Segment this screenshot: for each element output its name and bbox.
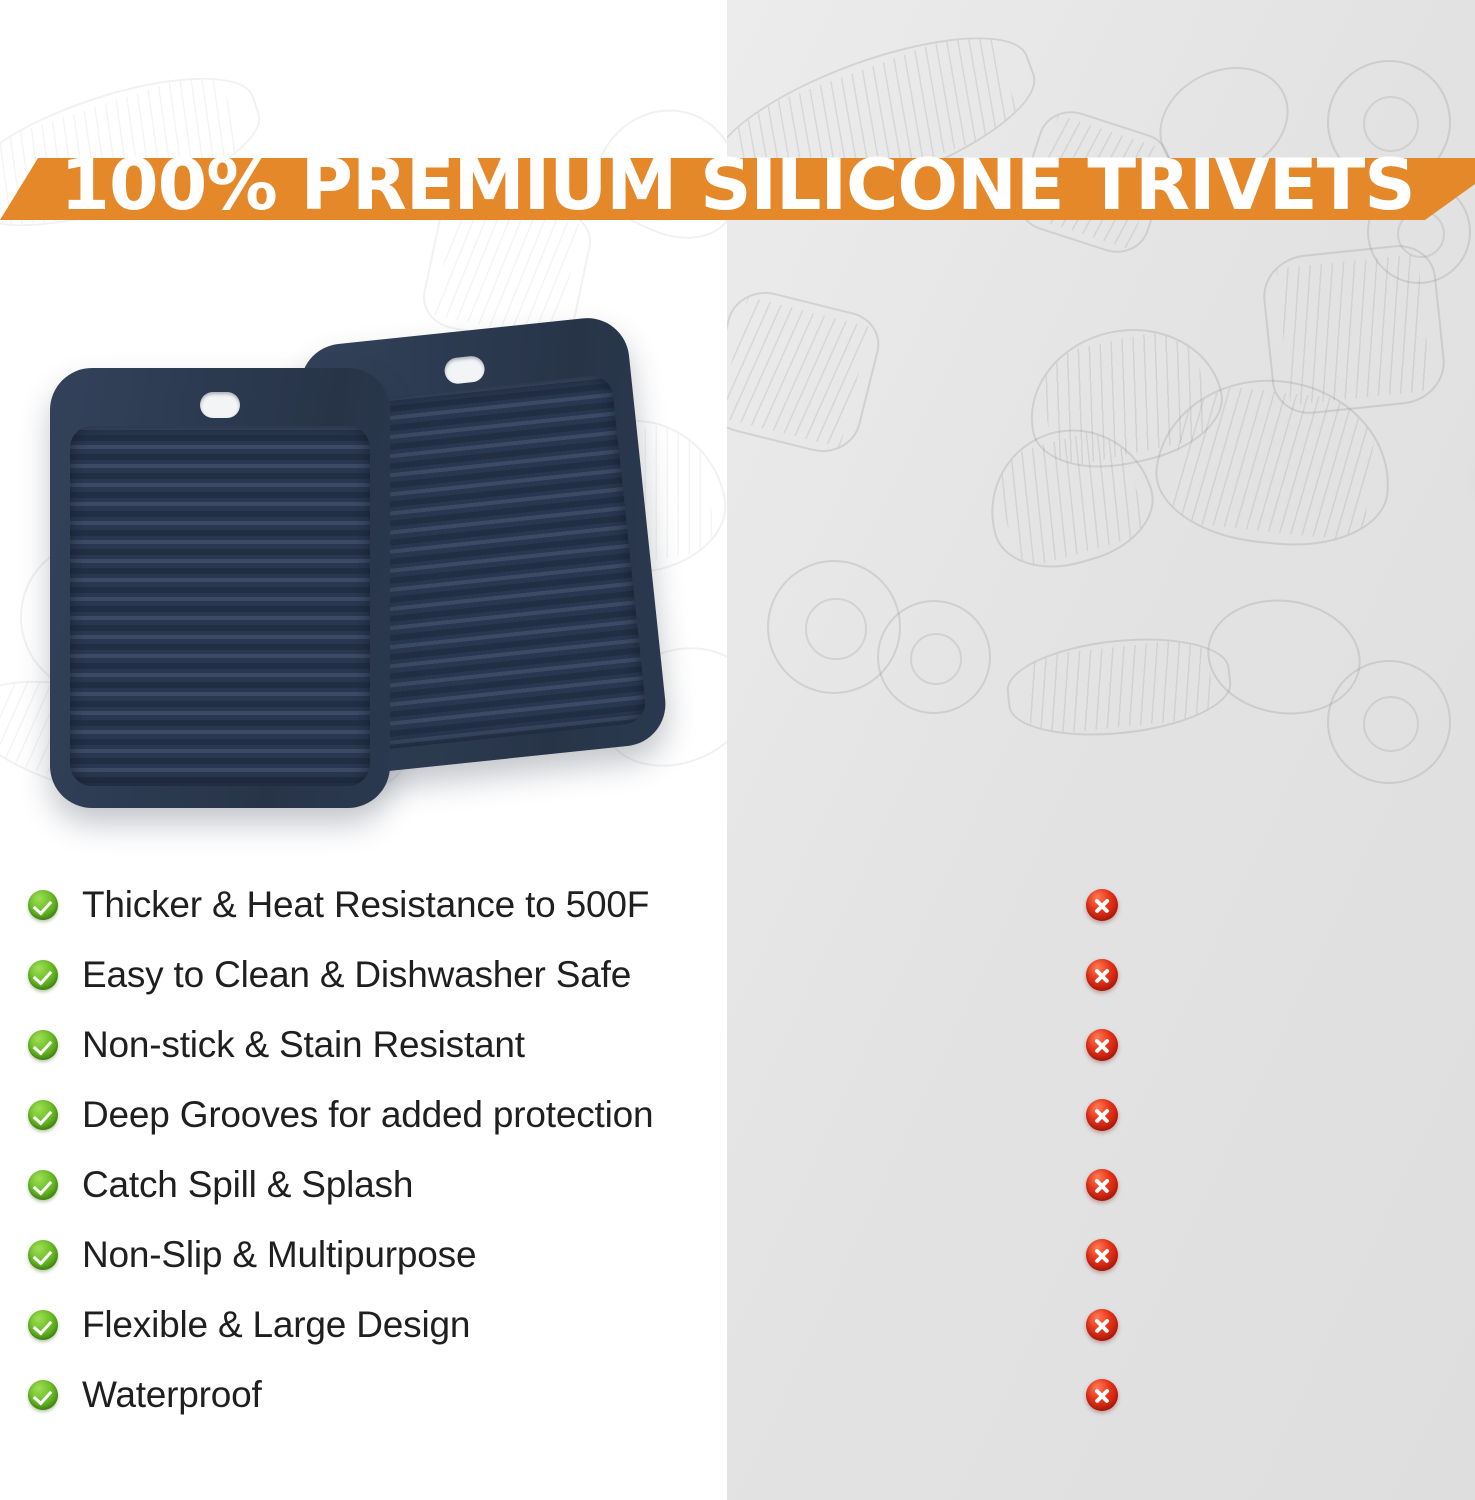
comparison-row-theirs: [1072, 1150, 1132, 1220]
x-icon: [1086, 1029, 1118, 1061]
feature-list-theirs: [1072, 870, 1132, 1430]
comparison-row-theirs: [1072, 940, 1132, 1010]
feature-row: Catch Spill & Splash: [28, 1150, 728, 1220]
check-icon: [28, 1310, 58, 1340]
page-title: 100% PREMIUM SILICONE TRIVETS: [0, 130, 1475, 240]
x-icon: [1086, 1099, 1118, 1131]
check-icon: [28, 1380, 58, 1410]
check-icon: [28, 1030, 58, 1060]
x-icon: [1086, 1379, 1118, 1411]
feature-label: Easy to Clean & Dishwasher Safe: [82, 954, 631, 996]
x-icon: [1086, 959, 1118, 991]
x-icon: [1086, 1239, 1118, 1271]
feature-label: Waterproof: [82, 1374, 262, 1416]
x-icon: [1086, 1169, 1118, 1201]
hang-hole: [200, 392, 240, 418]
feature-list-ours: Thicker & Heat Resistance to 500FEasy to…: [28, 870, 728, 1430]
hang-hole: [443, 355, 485, 385]
x-icon: [1086, 889, 1118, 921]
feature-row: Non-stick & Stain Resistant: [28, 1010, 728, 1080]
feature-label: Non-Slip & Multipurpose: [82, 1234, 476, 1276]
check-icon: [28, 890, 58, 920]
infographic-canvas: 100% PREMIUM SILICONE TRIVETS Thicker & …: [0, 0, 1475, 1500]
check-icon: [28, 1240, 58, 1270]
check-icon: [28, 1100, 58, 1130]
comparison-row-theirs: [1072, 1220, 1132, 1290]
silicone-trivet-front: [50, 368, 390, 808]
feature-row: Non-Slip & Multipurpose: [28, 1220, 728, 1290]
feature-row: Easy to Clean & Dishwasher Safe: [28, 940, 728, 1010]
check-icon: [28, 1170, 58, 1200]
feature-label: Catch Spill & Splash: [82, 1164, 413, 1206]
feature-row: Deep Grooves for added protection: [28, 1080, 728, 1150]
comparison-row-theirs: [1072, 1010, 1132, 1080]
feature-label: Flexible & Large Design: [82, 1304, 470, 1346]
header-banner: 100% PREMIUM SILICONE TRIVETS: [0, 130, 1475, 240]
x-icon: [1086, 1309, 1118, 1341]
comparison-row-theirs: [1072, 1290, 1132, 1360]
feature-row: Thicker & Heat Resistance to 500F: [28, 870, 728, 940]
ribbed-surface: [70, 426, 370, 786]
comparison-row-theirs: [1072, 870, 1132, 940]
comparison-row-theirs: [1072, 1080, 1132, 1150]
feature-label: Thicker & Heat Resistance to 500F: [82, 884, 649, 926]
feature-row: Flexible & Large Design: [28, 1290, 728, 1360]
silicone-trivets-image: [40, 320, 640, 820]
comparison-row-theirs: [1072, 1360, 1132, 1430]
check-icon: [28, 960, 58, 990]
feature-row: Waterproof: [28, 1360, 728, 1430]
feature-label: Non-stick & Stain Resistant: [82, 1024, 525, 1066]
feature-label: Deep Grooves for added protection: [82, 1094, 653, 1136]
